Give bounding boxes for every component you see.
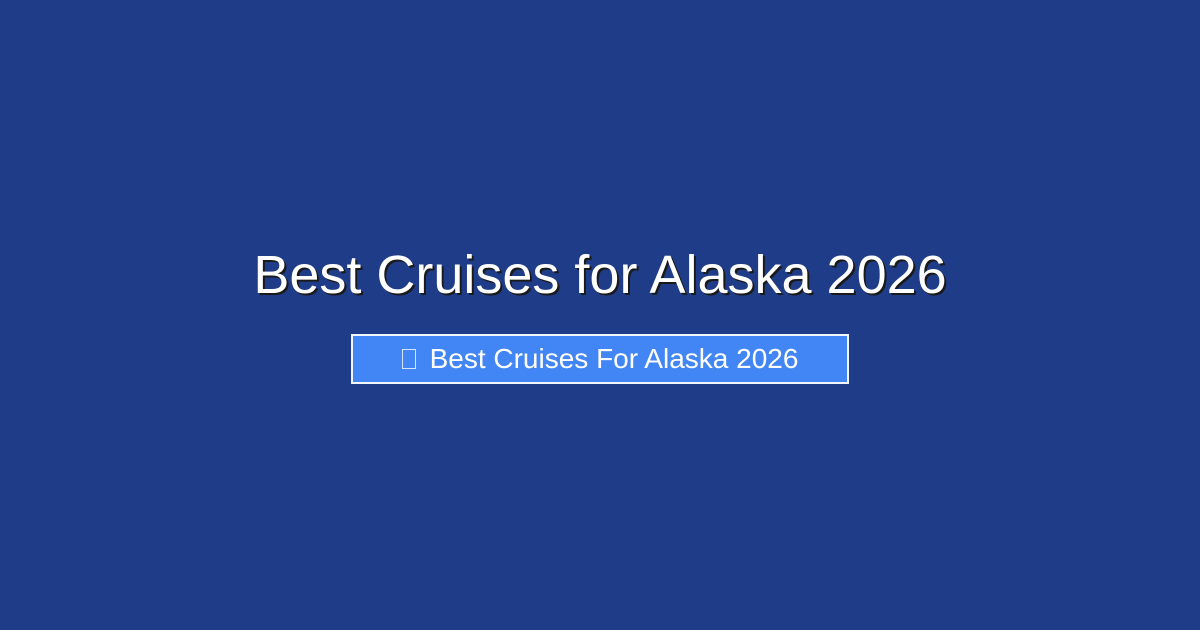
cta-button[interactable]: Best Cruises For Alaska 2026 [351,334,849,384]
page-title: Best Cruises for Alaska 2026 [253,246,946,305]
missing-glyph-box-icon [402,349,416,369]
og-preview-card: Best Cruises for Alaska 2026 Best Cruise… [0,0,1200,630]
cta-button-label: Best Cruises For Alaska 2026 [430,345,799,373]
